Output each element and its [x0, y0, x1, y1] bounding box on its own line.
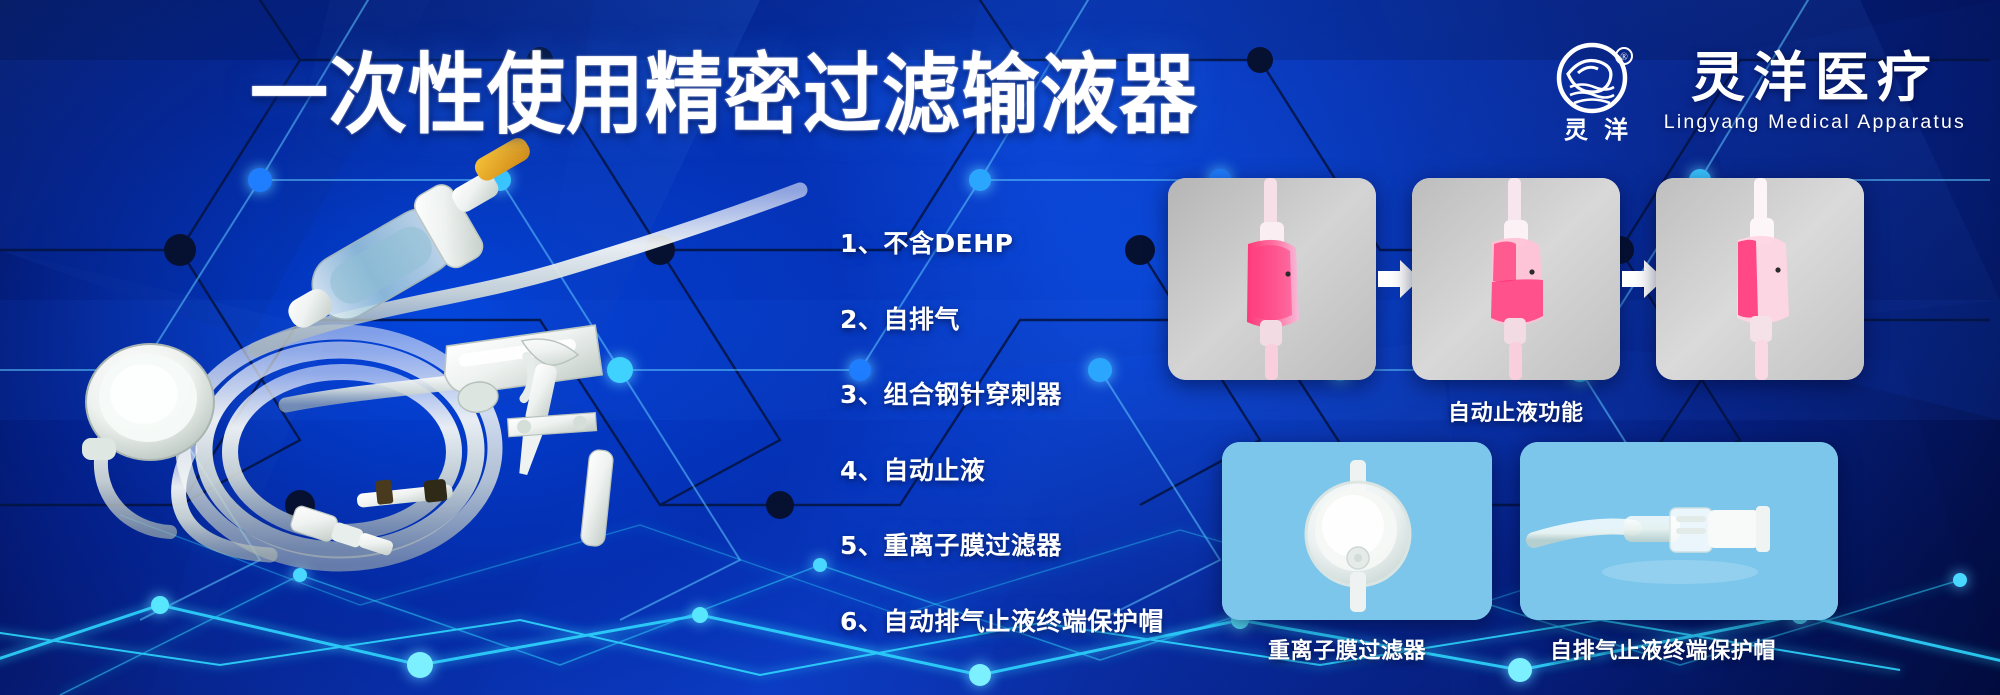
iv-valve-illustration-half	[1412, 178, 1620, 380]
membrane-filter-illustration	[1222, 442, 1492, 620]
brand-text: 灵洋医疗 Lingyang Medical Apparatus	[1664, 50, 1966, 134]
feature-item-4: 4、自动止液	[840, 451, 1260, 487]
photo-terminal-protective-cap	[1520, 442, 1838, 620]
emblem-caption-right: 洋	[1604, 116, 1628, 144]
registered-mark: ®	[1620, 52, 1628, 63]
product-photo-infusion-set	[40, 150, 830, 570]
needle-cap	[580, 449, 614, 547]
emblem-caption-left: 灵	[1564, 116, 1588, 144]
caption-heavy-ion-membrane-filter: 重离子膜过滤器	[1268, 633, 1426, 665]
brand-name-cn: 灵洋医疗	[1691, 50, 1939, 107]
photo-auto-stop-step-3	[1656, 178, 1864, 380]
iv-valve-illustration-low	[1656, 178, 1864, 380]
brand-name-en: Lingyang Medical Apparatus	[1664, 111, 1966, 134]
brand-logo: ® 灵 洋 灵洋医疗 Lingyang Medical Apparatus	[1548, 40, 1966, 144]
feature-item-5: 5、重离子膜过滤器	[840, 526, 1260, 562]
drip-chamber	[269, 134, 564, 353]
feature-item-3: 3、组合钢针穿刺器	[840, 375, 1260, 411]
iv-valve-illustration-full	[1168, 178, 1376, 380]
photo-heavy-ion-membrane-filter	[1222, 442, 1492, 620]
membrane-filter-disc	[82, 344, 214, 460]
photo-auto-stop-step-2	[1412, 178, 1620, 380]
banner-title: 一次性使用精密过滤输液器	[250, 52, 1198, 139]
tube-clamp	[508, 413, 597, 437]
feature-item-6: 6、自动排气止液终端保护帽	[840, 602, 1260, 638]
product-banner: 一次性使用精密过滤输液器 ® 灵 洋 灵洋医疗 Lingyang Medical…	[0, 0, 2000, 695]
lingyang-emblem-icon: ® 灵 洋	[1548, 40, 1644, 144]
caption-auto-stop-function: 自动止液功能	[1448, 395, 1584, 427]
terminal-cap-illustration	[1520, 442, 1838, 620]
photo-auto-stop-step-1	[1168, 178, 1376, 380]
caption-terminal-protective-cap: 自排气止液终端保护帽	[1550, 633, 1776, 665]
banner-title-wrap: 一次性使用精密过滤输液器	[250, 42, 1050, 150]
